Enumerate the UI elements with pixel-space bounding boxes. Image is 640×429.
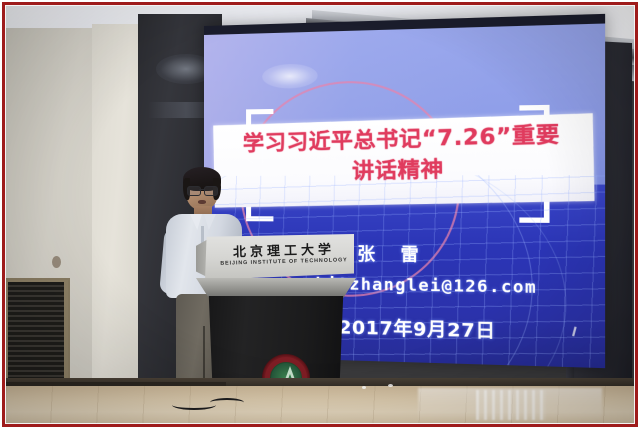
- speaker-mouth: [198, 200, 206, 204]
- wall-knob: [52, 256, 61, 268]
- lectern-name-plate: 北京理工大学 BEIJING INSTITUTE OF TECHNOLOGY: [202, 234, 354, 280]
- conference-photo: 学习习近平总书记“7.26”重要 讲话精神 张 雷 bitzhanglei@12…: [6, 6, 634, 423]
- glasses-bridge: [199, 189, 204, 190]
- glasses-icon: [187, 186, 201, 196]
- floor-highlight: [388, 384, 393, 387]
- wall-vent-grille-icon: [8, 282, 64, 392]
- floor-cable: [210, 398, 244, 407]
- floor-reflection-highlight: [476, 390, 546, 420]
- floor-highlight: [362, 386, 366, 389]
- slide-speaker-name: 张 雷: [357, 239, 605, 268]
- glasses-icon: [204, 186, 218, 196]
- photo-frame: 学习习近平总书记“7.26”重要 讲话精神 张 雷 bitzhanglei@12…: [0, 0, 640, 429]
- lectern-bevel: [196, 278, 356, 298]
